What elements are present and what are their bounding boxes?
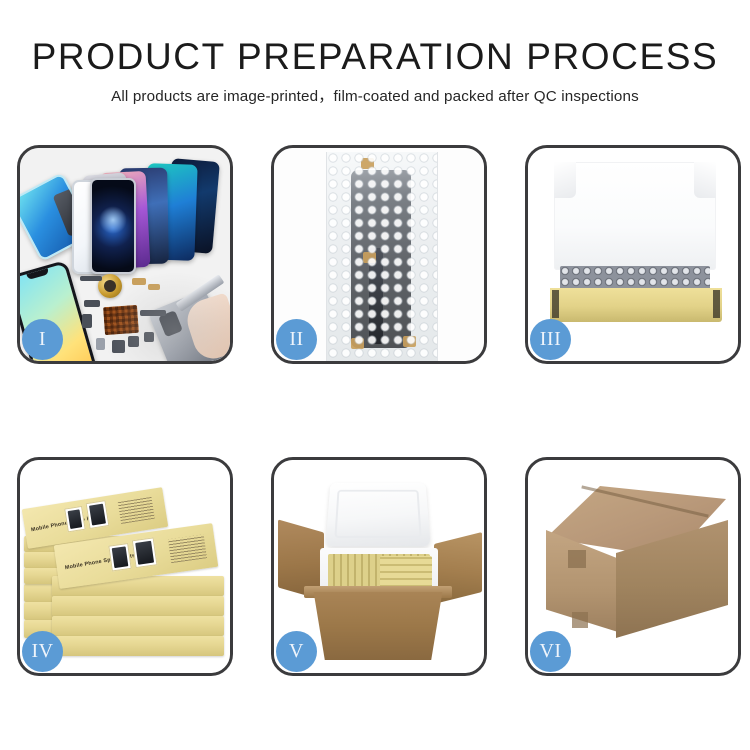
step-badge-6: VI bbox=[530, 631, 571, 672]
tweezers-icon bbox=[176, 274, 225, 311]
bubble-wrap-icon bbox=[327, 152, 437, 361]
box-window-icon bbox=[108, 543, 131, 572]
kraft-box-front-icon bbox=[550, 288, 722, 322]
small-part-icon bbox=[112, 340, 125, 353]
small-part-icon bbox=[132, 278, 146, 285]
page-title: PRODUCT PREPARATION PROCESS bbox=[0, 34, 750, 80]
small-part-icon bbox=[144, 332, 154, 342]
styrofoam-lid-icon bbox=[325, 483, 430, 547]
box-window-icon bbox=[64, 506, 86, 533]
product-preparation-infographic: PRODUCT PREPARATION PROCESS All products… bbox=[0, 0, 750, 750]
stacked-box-slab bbox=[52, 616, 224, 636]
box-spec-text-icon bbox=[168, 534, 207, 563]
vibration-motor-icon bbox=[98, 274, 122, 298]
box-stack-icon: Mobile Phone Spare Parts Mobile Phone Sp… bbox=[24, 476, 230, 662]
process-step-5[interactable]: V bbox=[271, 457, 487, 676]
step-badge-2: II bbox=[276, 319, 317, 360]
stacked-box-slab bbox=[52, 636, 224, 656]
step-badge-5: V bbox=[276, 631, 317, 672]
small-part-icon bbox=[128, 336, 139, 347]
process-step-1[interactable]: I bbox=[17, 145, 233, 364]
technician-hand-icon bbox=[182, 292, 230, 361]
step-badge-4: IV bbox=[22, 631, 63, 672]
carton-tape-icon bbox=[568, 550, 586, 568]
process-step-grid: I II bbox=[17, 145, 741, 675]
small-part-icon bbox=[96, 338, 105, 350]
step-badge-3: III bbox=[530, 319, 571, 360]
poly-bag-icon bbox=[326, 152, 438, 361]
process-step-2[interactable]: II bbox=[271, 145, 487, 364]
box-spec-text-icon bbox=[118, 497, 155, 524]
step-badge-1: I bbox=[22, 319, 63, 360]
box-window-icon bbox=[86, 500, 110, 529]
process-step-6[interactable]: VI bbox=[525, 457, 741, 676]
carton-front-icon bbox=[308, 592, 448, 660]
foam-lid-icon bbox=[554, 162, 716, 270]
stacked-box-slab bbox=[52, 596, 224, 616]
process-step-4[interactable]: Mobile Phone Spare Parts Mobile Phone Sp… bbox=[17, 457, 233, 676]
small-part-icon bbox=[82, 314, 92, 328]
small-part-icon bbox=[140, 310, 166, 316]
small-part-icon bbox=[148, 284, 160, 290]
phone-front-screen-icon bbox=[90, 178, 136, 274]
screw-board-icon bbox=[103, 305, 139, 335]
carton-tape-icon bbox=[572, 612, 588, 628]
page-subtitle: All products are image-printed，film-coat… bbox=[0, 87, 750, 107]
small-part-icon bbox=[80, 276, 102, 281]
small-part-icon bbox=[84, 300, 100, 307]
phone-back-housing-icon bbox=[148, 289, 230, 361]
box-window-icon bbox=[132, 537, 158, 568]
header: PRODUCT PREPARATION PROCESS All products… bbox=[0, 34, 750, 107]
process-step-3[interactable]: III bbox=[525, 145, 741, 364]
